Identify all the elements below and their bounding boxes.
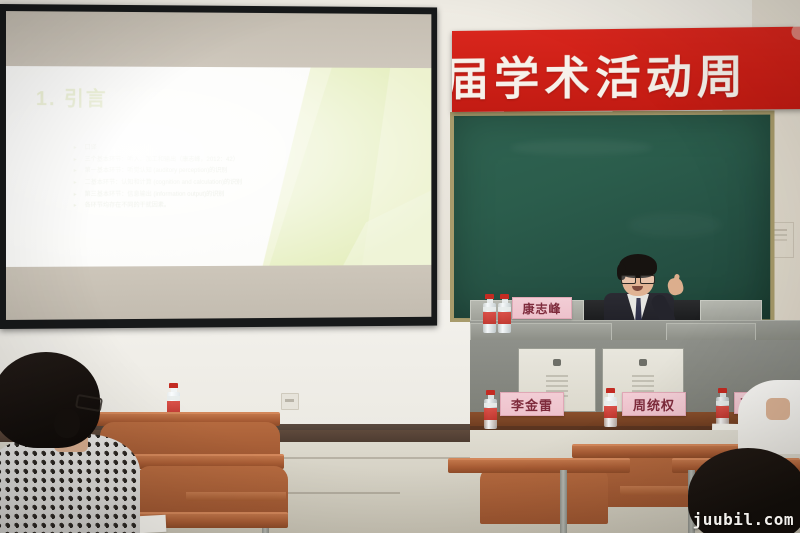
- slide-bullet-item: 第三基本环节：信息输出 (information output)的识别: [74, 188, 316, 200]
- bottle-label-white: [604, 401, 617, 405]
- slide-title: 1. 引言: [36, 82, 108, 111]
- bottle-label: [604, 406, 617, 418]
- desk-backrest: [480, 466, 608, 524]
- banner-clip: 届学术活动周: [452, 27, 800, 112]
- slide-bullet-item: 各环节均存在不同的干扰因素。: [74, 200, 316, 212]
- slide-bullet-item: 口译: [74, 142, 316, 154]
- nameplate-kang: 康志峰: [512, 297, 572, 319]
- slide-bullet-en: (cognition and calculation)的识别: [152, 179, 242, 186]
- cabinet-vent: [546, 375, 568, 377]
- bottle-body: [483, 303, 496, 333]
- watermark: juubil.com: [693, 510, 794, 529]
- slide-bullet-en: (information output)的识别: [152, 190, 225, 197]
- projection-screen-surface: 1. 引言 口译三个基本环节：听入、加工和输出（康志峰，2012：42）第一基本…: [6, 11, 431, 320]
- slide-bullet-cn: 口译: [85, 144, 97, 151]
- water-bottle: [484, 390, 497, 429]
- red-banner: 届学术活动周: [452, 27, 800, 112]
- desk-surface: [448, 458, 630, 473]
- water-bottle: [483, 294, 496, 333]
- banner-text: 届学术活动周: [452, 39, 748, 108]
- slide-bullet-cn: 各环节均存在不同的干扰因素。: [85, 202, 170, 209]
- water-bottle: [498, 294, 511, 333]
- bottle-label-white: [498, 307, 511, 311]
- bottle-label: [483, 312, 496, 324]
- bottle-label-white: [167, 396, 180, 400]
- bottle-label-white: [484, 403, 497, 407]
- cabinet-knob-icon: [639, 359, 647, 366]
- chalk-smudge-2: [627, 213, 722, 238]
- slide-bullet-item: 第一基本环节：听觉认知 (auditory perception)的识别: [74, 165, 316, 177]
- slide-bullet-cn: 三个基本环节：听入、加工和输出（康志峰，2012：42）: [85, 156, 239, 163]
- desk-leg: [560, 470, 567, 533]
- bottle-body: [498, 303, 511, 333]
- slide-bullet-cn: 二基本环节：认知和计算: [85, 179, 152, 186]
- cabinet-vent: [632, 375, 654, 377]
- bottle-label: [498, 312, 511, 324]
- audience-neck: [766, 398, 790, 420]
- photo-scene: 1. 引言 口译三个基本环节：听入、加工和输出（康志峰，2012：42）第一基本…: [0, 0, 800, 533]
- bottle-label: [484, 408, 497, 420]
- podium-tray: [666, 323, 756, 341]
- desk-shelf: [186, 492, 286, 501]
- presentation-slide: 1. 引言 口译三个基本环节：听入、加工和输出（康志峰，2012：42）第一基本…: [6, 66, 431, 281]
- cabinet-knob-icon: [553, 359, 561, 366]
- bottle-label-white: [483, 307, 496, 311]
- screen-top-band: [6, 11, 431, 68]
- slide-bullet-item: 三个基本环节：听入、加工和输出（康志峰，2012：42）: [74, 154, 316, 166]
- projection-screen: 1. 引言 口译三个基本环节：听入、加工和输出（康志峰，2012：42）第一基本…: [0, 4, 437, 329]
- bottle-body: [604, 397, 617, 427]
- water-bottle: [604, 388, 617, 427]
- bottle-body: [484, 399, 497, 429]
- screen-bottom-band: [6, 265, 431, 320]
- audience-front-left: [0, 352, 160, 533]
- slide-bullet-cn: 第三基本环节：信息输出: [85, 190, 152, 197]
- slide-bullet-item: 二基本环节：认知和计算 (cognition and calculation)的…: [74, 177, 316, 189]
- glasses-icon: [621, 275, 655, 282]
- slide-bullet-cn: 第一基本环节：听觉认知: [85, 167, 152, 174]
- slide-bullet-list: 口译三个基本环节：听入、加工和输出（康志峰，2012：42）第一基本环节：听觉认…: [34, 142, 316, 211]
- nameplate-li: 李金雷: [500, 392, 564, 416]
- wall-outlet-icon: [281, 393, 299, 410]
- slide-bullet-en: (auditory perception)的识别: [152, 167, 228, 174]
- chalk-smudge: [510, 140, 652, 157]
